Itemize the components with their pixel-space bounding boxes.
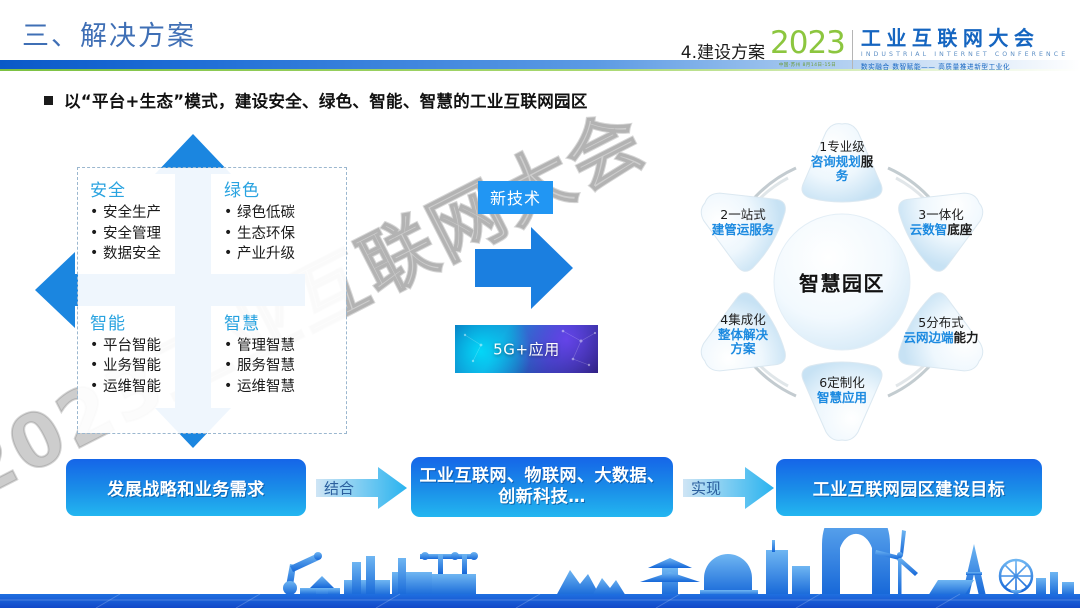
quadrant-grid: 安全 安全生产 安全管理 数据安全 绿色 绿色低碳 生态环保 产业升级 智能 平… — [77, 167, 347, 434]
list-item: 运维智慧 — [224, 377, 340, 398]
flow-arrow-achieve: 实现 — [683, 466, 775, 510]
logo-separator — [852, 30, 853, 69]
flow-box-goal: 工业互联网园区建设目标 — [776, 459, 1042, 516]
list-item: 安全管理 — [90, 224, 206, 245]
logo-tagline: 数实融合 数智赋能—— 高质量推进新型工业化 — [861, 61, 1068, 71]
square-bullet-icon — [44, 96, 53, 105]
flow-box-technologies: 工业互联网、物联网、大数据、创新科技… — [411, 457, 673, 517]
logo-en-title: INDUSTRIAL INTERNET CONFERENCE — [861, 51, 1068, 58]
logo-cn-title: 工业互联网大会 — [861, 28, 1068, 49]
list-item: 安全生产 — [90, 203, 206, 224]
list-item: 运维智能 — [90, 377, 206, 398]
section-label: 4.建设方案 — [681, 38, 765, 63]
list-item: 产业升级 — [224, 244, 340, 265]
list-item: 绿色低碳 — [224, 203, 340, 224]
quadrant-list: 平台智能 业务智能 运维智能 — [90, 336, 206, 398]
quadrant-title: 智慧 — [224, 309, 340, 334]
logo-year-text: 2023 — [770, 28, 845, 59]
flow-arrow-label: 结合 — [324, 478, 354, 499]
list-item: 服务智慧 — [224, 356, 340, 377]
new-tech-tag: 新技术 — [478, 181, 553, 214]
flow-arrow-combine: 结合 — [316, 466, 408, 510]
page-title: 三、解决方案 — [22, 14, 196, 53]
quadrant-list: 安全生产 安全管理 数据安全 — [90, 203, 206, 265]
quadrant-diagram: 安全 安全生产 安全管理 数据安全 绿色 绿色低碳 生态环保 产业升级 智能 平… — [35, 132, 355, 450]
quadrant-cell-intelligent: 智能 平台智能 业务智能 运维智能 — [78, 301, 212, 434]
list-item: 平台智能 — [90, 336, 206, 357]
flow-arrow-label: 实现 — [691, 478, 721, 499]
quadrant-title: 安全 — [90, 176, 206, 201]
quadrant-title: 智能 — [90, 309, 206, 334]
quadrant-cell-security: 安全 安全生产 安全管理 数据安全 — [78, 168, 212, 301]
slide-root: 三、解决方案 4.建设方案 2023 中国·苏州 8月14日-15日 工业互联网… — [0, 0, 1080, 608]
circle-center-label: 智慧园区 — [799, 268, 885, 297]
quadrant-list: 绿色低碳 生态环保 产业升级 — [224, 203, 340, 265]
bullet-heading: 以“平台+生态”模式，建设安全、绿色、智能、智慧的工业互联网园区 — [44, 88, 588, 112]
conference-logo: 2023 中国·苏州 8月14日-15日 工业互联网大会 INDUSTRIAL … — [770, 28, 1068, 71]
flow-box-strategy: 发展战略和业务需求 — [66, 459, 306, 516]
list-item: 数据安全 — [90, 244, 206, 265]
list-item: 业务智能 — [90, 356, 206, 377]
list-item: 生态环保 — [224, 224, 340, 245]
fiveg-application-card: 5G+应用 — [455, 325, 598, 373]
logo-year-block: 2023 中国·苏州 8月14日-15日 — [770, 28, 852, 68]
right-arrow-icon — [475, 225, 575, 315]
quadrant-title: 绿色 — [224, 176, 340, 201]
skyline-silhouette-icon — [283, 528, 1032, 596]
quadrant-list: 管理智慧 服务智慧 运维智慧 — [224, 336, 340, 398]
fiveg-label: 5G+应用 — [455, 339, 598, 360]
quadrant-cell-green: 绿色 绿色低碳 生态环保 产业升级 — [212, 168, 346, 301]
smart-park-circle-diagram: 1专业级 咨询规划服 务 2一站式 建管运服务 3一体化 云数智底座 4集成化 … — [668, 108, 1016, 456]
city-skyline-decoration — [0, 528, 1080, 608]
logo-year-subtitle: 中国·苏州 8月14日-15日 — [779, 62, 836, 68]
logo-title-block: 工业互联网大会 INDUSTRIAL INTERNET CONFERENCE 数… — [861, 28, 1068, 71]
list-item: 管理智慧 — [224, 336, 340, 357]
bullet-heading-text: 以“平台+生态”模式，建设安全、绿色、智能、智慧的工业互联网园区 — [64, 88, 588, 112]
quadrant-cell-smart: 智慧 管理智慧 服务智慧 运维智慧 — [212, 301, 346, 434]
